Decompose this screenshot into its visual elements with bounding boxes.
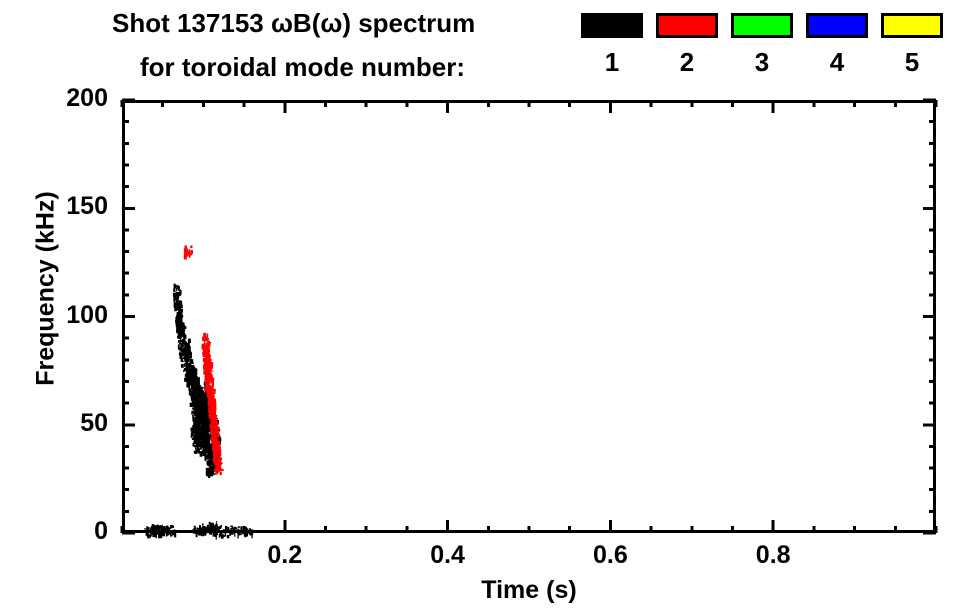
spectrogram-figure: Shot 137153 ωB(ω) spectrum for toroidal … <box>0 0 963 615</box>
x-tick-label-0.6: 0.6 <box>565 541 655 570</box>
legend-label-3: 3 <box>731 49 793 75</box>
legend-entry-4[interactable]: 4 <box>806 13 868 75</box>
legend-swatch-3 <box>731 13 793 38</box>
legend-swatch-2 <box>656 13 718 38</box>
x-tick-label-0.2: 0.2 <box>240 541 330 570</box>
legend-label-4: 4 <box>806 49 868 75</box>
y-tick-label-50: 50 <box>18 409 108 438</box>
legend-swatch-4 <box>806 13 868 38</box>
x-tick-label-0.8: 0.8 <box>728 541 818 570</box>
x-tick-label-0.4: 0.4 <box>403 541 493 570</box>
x-axis-label: Time (s) <box>122 576 936 605</box>
legend-label-2: 2 <box>656 49 718 75</box>
legend-swatch-1 <box>581 13 643 38</box>
legend-entry-2[interactable]: 2 <box>656 13 718 75</box>
figure-title-line-2: for toroidal mode number: <box>140 52 465 83</box>
figure-title-line-1: Shot 137153 ωB(ω) spectrum <box>112 8 475 39</box>
legend-entry-3[interactable]: 3 <box>731 13 793 75</box>
legend-swatch-5 <box>881 13 943 38</box>
legend: 12345 <box>581 13 941 91</box>
y-tick-label-200: 200 <box>18 84 108 113</box>
legend-entry-5[interactable]: 5 <box>881 13 943 75</box>
legend-label-1: 1 <box>581 49 643 75</box>
legend-label-5: 5 <box>881 49 943 75</box>
y-tick-label-150: 150 <box>18 192 108 221</box>
legend-entry-1[interactable]: 1 <box>581 13 643 75</box>
y-tick-label-100: 100 <box>18 301 108 330</box>
y-tick-label-0: 0 <box>18 517 108 546</box>
plot-frame <box>122 100 936 533</box>
